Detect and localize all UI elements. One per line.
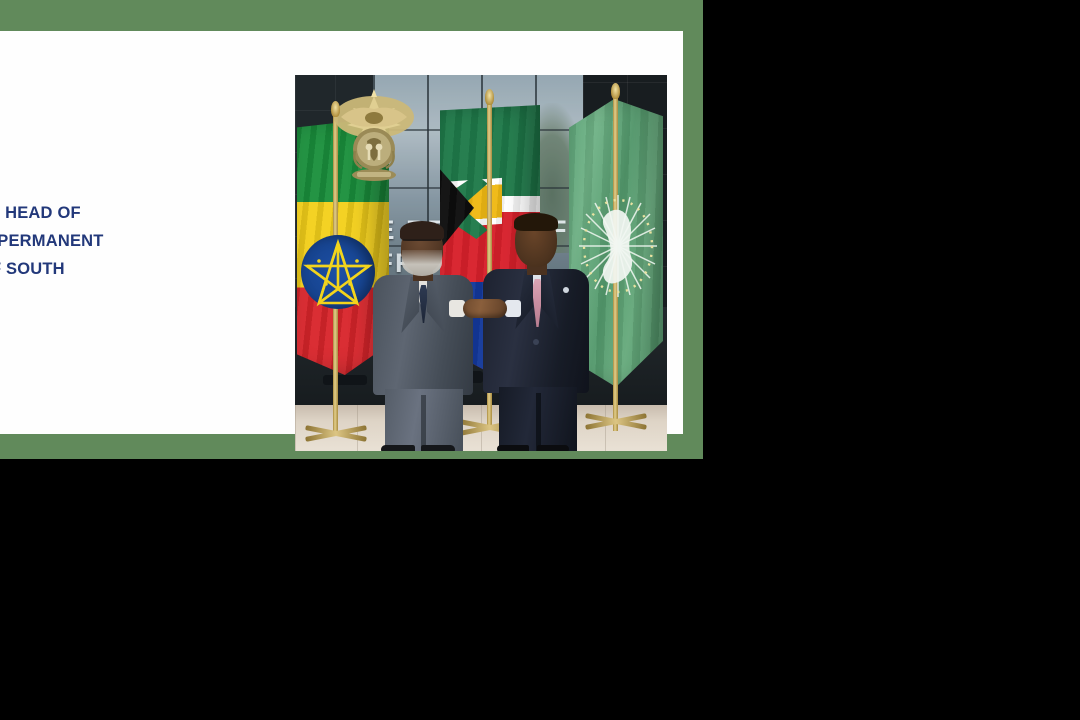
handshake-hands xyxy=(463,299,507,318)
left-man-trousers xyxy=(385,389,463,451)
coat-of-arms-emblem xyxy=(331,87,417,191)
flag-base-ethiopia xyxy=(305,425,367,441)
person-left-grey-suit xyxy=(369,223,475,451)
right-man-hair xyxy=(514,213,558,231)
background-chair-1 xyxy=(323,375,367,385)
handshake-cuff-right xyxy=(505,300,521,317)
left-man-shoe-right xyxy=(421,445,455,451)
screenshot-stage: TO THE AU AND HEAD OF U MEETS WITH PERMA… xyxy=(0,0,1080,720)
headline-line-1: TO THE AU AND HEAD OF xyxy=(0,199,290,227)
right-man-jacket-button xyxy=(533,339,539,345)
left-man-glasses xyxy=(403,239,441,250)
left-man-beard xyxy=(402,250,442,276)
headline-line-3: ESENTATIVE OF SOUTH xyxy=(0,255,290,283)
flag-finial-ethiopia xyxy=(331,101,340,117)
ethiopia-star-disc xyxy=(301,235,375,309)
left-man-hair xyxy=(400,221,444,241)
photo-scene: HE REP OF AFF xyxy=(295,75,667,451)
page-headline: TO THE AU AND HEAD OF U MEETS WITH PERMA… xyxy=(0,199,290,311)
flag-base-african-union xyxy=(585,413,647,429)
headline-line-4: A TO THE AU xyxy=(0,283,290,311)
article-photo: HE REP OF AFF xyxy=(295,75,667,451)
content-card: TO THE AU AND HEAD OF U MEETS WITH PERMA… xyxy=(0,31,683,434)
right-man-trousers xyxy=(499,387,577,451)
flag-finial-african-union xyxy=(611,83,620,99)
person-right-navy-suit xyxy=(481,215,591,451)
flag-finial-south-africa xyxy=(485,89,494,105)
right-man-lapel-pin xyxy=(563,287,569,293)
handshake xyxy=(463,297,507,321)
right-man-shoe-left xyxy=(497,445,529,451)
left-man-shoe-left xyxy=(381,445,415,451)
right-man-shoe-right xyxy=(537,445,569,451)
headline-line-2: U MEETS WITH PERMANENT xyxy=(0,227,290,255)
